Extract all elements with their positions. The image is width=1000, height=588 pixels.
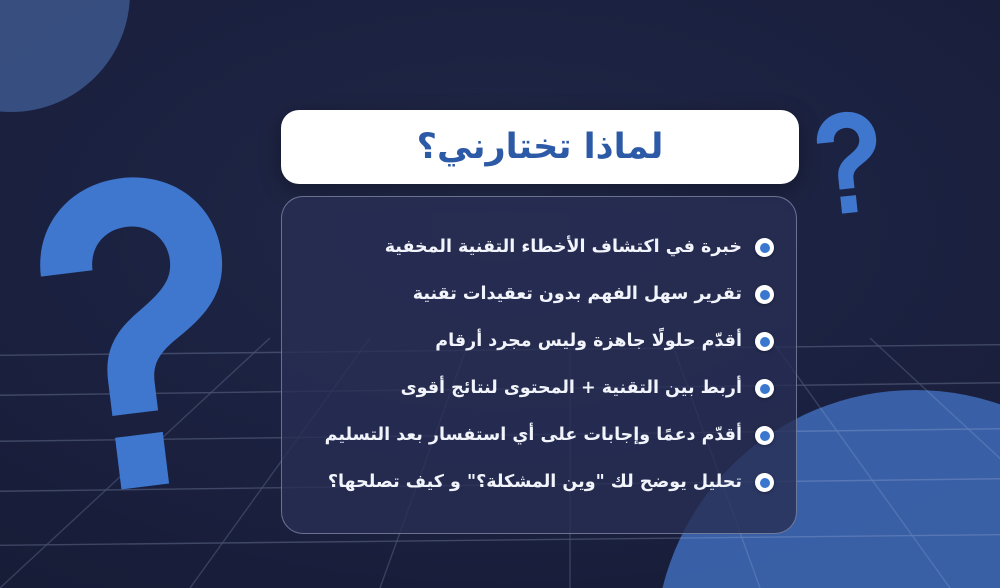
list-item-label: أربط بين التقنية + المحتوى لنتائج أقوى bbox=[401, 378, 742, 400]
list-item: تحليل يوضح لك "وين المشكلة؟" و كيف تصلحه… bbox=[304, 459, 774, 506]
radio-bullet-icon bbox=[755, 379, 774, 398]
question-mark-small-icon bbox=[813, 107, 886, 221]
circle-top-left-decoration bbox=[0, 0, 130, 112]
features-card: خبرة في اكتشاف الأخطاء التقنية المخفية ت… bbox=[281, 196, 797, 534]
list-item: خبرة في اكتشاف الأخطاء التقنية المخفية bbox=[304, 224, 774, 271]
title-card: لماذا تختارني؟ bbox=[281, 110, 799, 184]
slide-canvas: لماذا تختارني؟ خبرة في اكتشاف الأخطاء ال… bbox=[0, 0, 1000, 588]
list-item: أربط بين التقنية + المحتوى لنتائج أقوى bbox=[304, 365, 774, 412]
page-title: لماذا تختارني؟ bbox=[417, 130, 664, 165]
radio-bullet-icon bbox=[755, 332, 774, 351]
list-item-label: أقدّم دعمًا وإجابات على أي استفسار بعد ا… bbox=[325, 425, 742, 447]
list-item-label: تقرير سهل الفهم بدون تعقيدات تقنية bbox=[413, 284, 742, 306]
list-item: أقدّم حلولًا جاهزة وليس مجرد أرقام bbox=[304, 318, 774, 365]
list-item-label: تحليل يوضح لك "وين المشكلة؟" و كيف تصلحه… bbox=[328, 472, 742, 494]
list-item-label: أقدّم حلولًا جاهزة وليس مجرد أرقام bbox=[435, 331, 742, 353]
question-mark-large-icon bbox=[26, 162, 255, 513]
radio-bullet-icon bbox=[755, 238, 774, 257]
radio-bullet-icon bbox=[755, 426, 774, 445]
list-item: أقدّم دعمًا وإجابات على أي استفسار بعد ا… bbox=[304, 412, 774, 459]
list-item: تقرير سهل الفهم بدون تعقيدات تقنية bbox=[304, 271, 774, 318]
list-item-label: خبرة في اكتشاف الأخطاء التقنية المخفية bbox=[385, 237, 742, 259]
radio-bullet-icon bbox=[755, 285, 774, 304]
radio-bullet-icon bbox=[755, 473, 774, 492]
